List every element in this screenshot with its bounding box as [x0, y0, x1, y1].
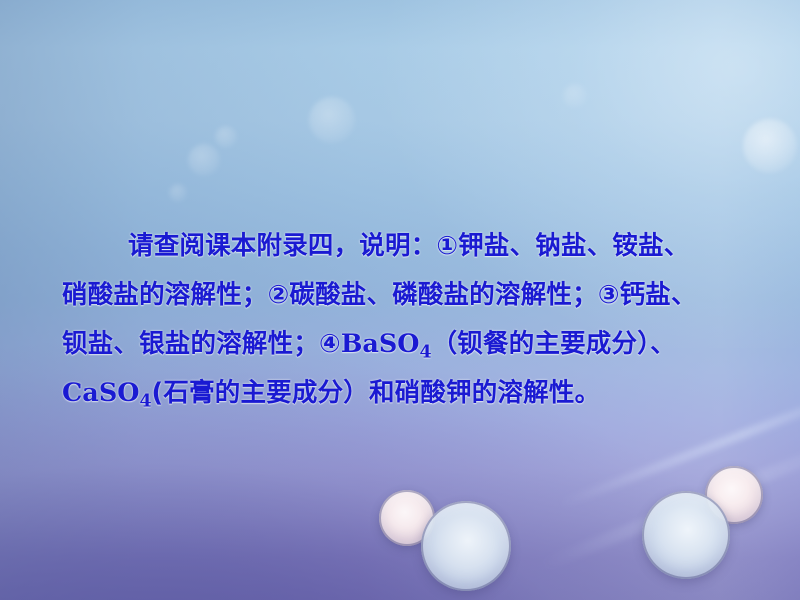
line-3-segment-a: 钡盐、银盐的溶解性；	[62, 329, 319, 359]
formula-barium-sulfate-subscript: 4	[420, 343, 432, 363]
body-text-line-2: 硝酸盐的溶解性；②碳酸盐、磷酸盐的溶解性；③钙盐、	[62, 271, 746, 320]
line-4-segment-a: (石膏的主要成分）和硝酸钾的溶解性。	[152, 378, 601, 408]
bokeh-circle-4	[215, 126, 237, 148]
body-text-line-3: 钡盐、银盐的溶解性；④BaSO4（钡餐的主要成分）、	[62, 320, 746, 369]
sphere-right-small-rim	[705, 466, 763, 524]
line-1-segment-a: 请查阅课本附录四，说明：	[128, 231, 436, 261]
bokeh-circle-2	[309, 97, 355, 143]
bokeh-circle-5	[563, 84, 587, 108]
sphere-left-small	[379, 490, 435, 546]
formula-calcium-sulfate-subscript: 4	[139, 392, 151, 412]
bokeh-circle-3	[188, 144, 220, 176]
slide-canvas: 请查阅课本附录四，说明：①钾盐、钠盐、铵盐、 硝酸盐的溶解性；②碳酸盐、磷酸盐的…	[0, 0, 800, 600]
sphere-right-large-rim	[642, 491, 730, 579]
bokeh-circle-6	[169, 184, 187, 202]
line-1-segment-b: 钾盐、钠盐、铵盐、	[458, 231, 689, 261]
sphere-left-large-rim	[421, 501, 511, 591]
formula-barium-sulfate: BaSO4	[341, 329, 432, 359]
line-2-segment-b: 碳酸盐、磷酸盐的溶解性；	[289, 280, 597, 310]
line-3-segment-b: （钡餐的主要成分）、	[432, 329, 676, 359]
light-streak-lower	[538, 433, 800, 572]
bokeh-circle-1	[743, 119, 797, 173]
line-2-segment-c: 钙盐、	[620, 280, 697, 310]
sphere-right-large	[642, 491, 730, 579]
line-2-segment-a: 硝酸盐的溶解性；	[62, 280, 268, 310]
formula-calcium-sulfate-base: CaSO	[62, 378, 139, 408]
sphere-left-small-rim	[379, 490, 435, 546]
slide-body-text: 请查阅课本附录四，说明：①钾盐、钠盐、铵盐、 硝酸盐的溶解性；②碳酸盐、磷酸盐的…	[62, 222, 746, 418]
body-text-line-4: CaSO4(石膏的主要成分）和硝酸钾的溶解性。	[62, 369, 746, 418]
list-marker-2: ②	[268, 280, 290, 310]
list-marker-3: ③	[598, 280, 620, 310]
body-text-line-1: 请查阅课本附录四，说明：①钾盐、钠盐、铵盐、	[62, 222, 746, 271]
formula-barium-sulfate-base: BaSO	[341, 329, 420, 359]
list-marker-1: ①	[436, 231, 458, 261]
sphere-left-large	[421, 501, 511, 591]
list-marker-4: ④	[319, 329, 341, 359]
sphere-right-small	[705, 466, 763, 524]
formula-calcium-sulfate: CaSO4	[62, 378, 152, 408]
